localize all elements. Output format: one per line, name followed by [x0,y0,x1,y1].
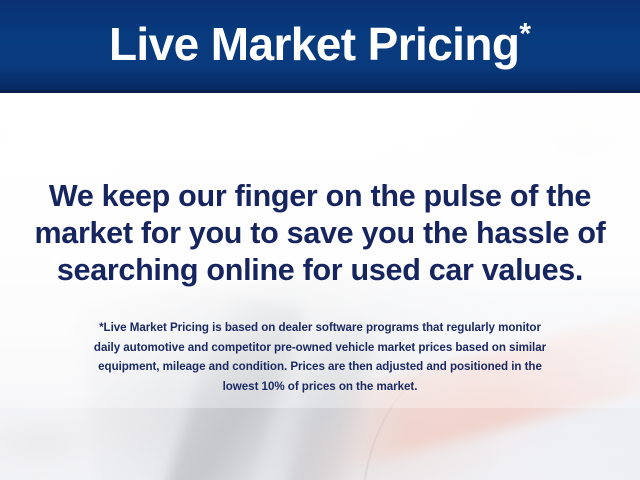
disclaimer-line-3: equipment, mileage and condition. Prices… [30,357,610,377]
banner-title-asterisk: * [519,18,531,51]
headline-line-1: We keep our finger on the pulse of the [26,178,614,215]
headline-line-2: market for you to save you the hassle of [26,215,614,252]
disclaimer-line-2: daily automotive and competitor pre-owne… [30,338,610,358]
headline-block: We keep our finger on the pulse of the m… [26,178,614,289]
disclaimer-line-4: lowest 10% of prices on the market. [30,377,610,397]
banner-title: Live Market Pricing* [109,21,531,67]
header-banner: Live Market Pricing* [0,0,640,93]
disclaimer-block: *Live Market Pricing is based on dealer … [30,318,610,396]
disclaimer-line-1: *Live Market Pricing is based on dealer … [30,318,610,338]
headline-line-3: searching online for used car values. [26,252,614,289]
live-market-pricing-graphic: Live Market Pricing* We keep our finger … [0,0,640,480]
banner-title-text: Live Market Pricing [109,18,519,70]
